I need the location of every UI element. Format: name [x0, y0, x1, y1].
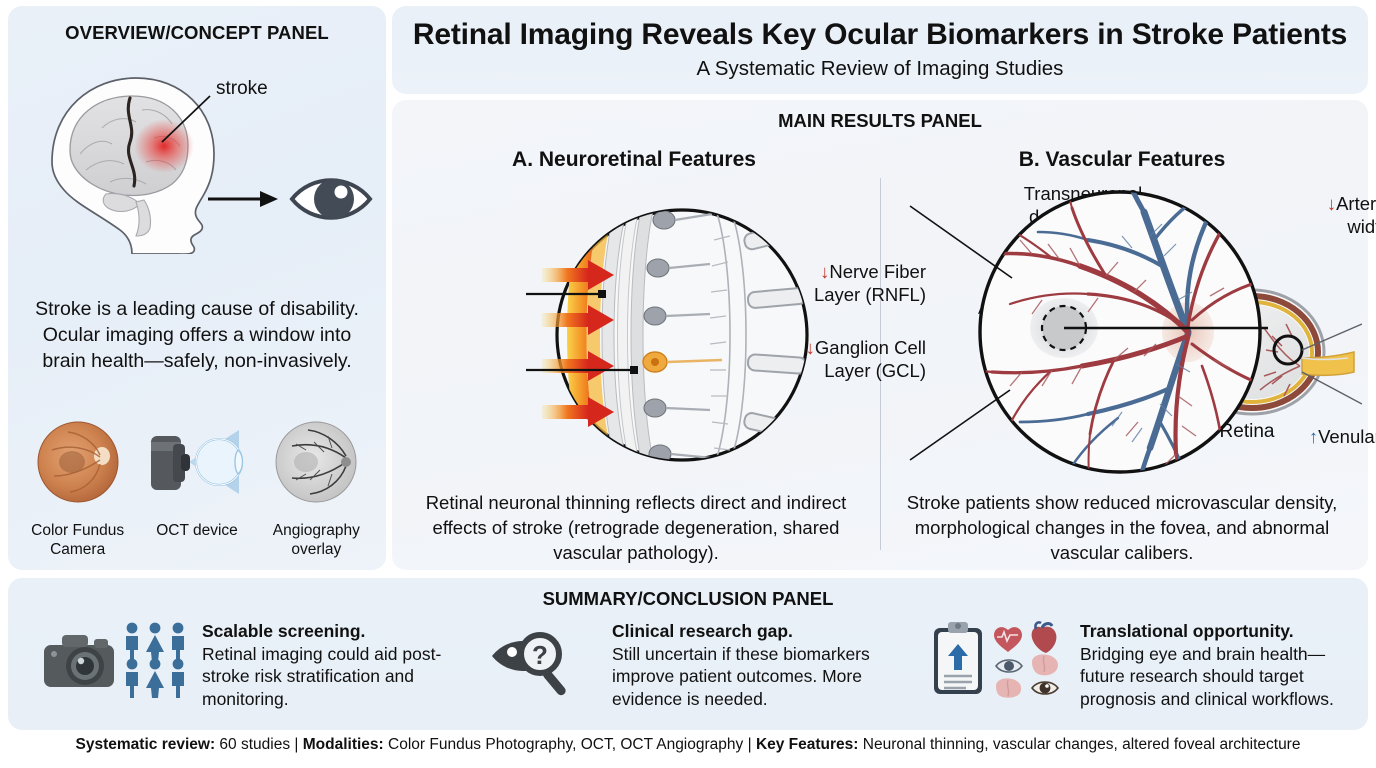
overview-concept-panel: OVERVIEW/CONCEPT PANEL	[8, 6, 386, 570]
label-venular-width: ↑Venular width	[1304, 425, 1376, 448]
summary-title: Scalable screening.	[202, 621, 365, 641]
panel-b-caption: Stroke patients show reduced microvascul…	[894, 490, 1350, 565]
angiography-overlay-icon	[262, 414, 370, 510]
summary-text: Scalable screening. Retinal imaging coul…	[202, 620, 448, 710]
header-panel: Retinal Imaging Reveals Key Ocular Bioma…	[392, 6, 1368, 94]
summary-item-translational: Translational opportunity. Bridging eye …	[928, 620, 1358, 710]
modality-label: Color Fundus Camera	[22, 521, 134, 559]
footer-value-modalities: Color Fundus Photography, OCT, OCT Angio…	[388, 736, 743, 753]
summary-title: Translational opportunity.	[1080, 621, 1294, 641]
retinal-layers-diagram	[392, 170, 892, 490]
fundus-photo-icon	[24, 414, 132, 510]
svg-text:?: ?	[532, 640, 548, 670]
decrease-arrow-icon: ↓	[1327, 193, 1336, 214]
fundus-vascular-diagram	[892, 160, 1368, 500]
footer-separator: |	[294, 736, 298, 753]
footer-bar: Systematic review: 60 studies | Modaliti…	[0, 736, 1376, 754]
camera-icon	[38, 621, 120, 697]
summary-icons: ?	[488, 620, 602, 700]
infographic-root: OVERVIEW/CONCEPT PANEL	[0, 0, 1376, 768]
modality-icon-row: Color Fundus Camera OCT dev	[18, 414, 376, 559]
summary-conclusion-panel: SUMMARY/CONCLUSION PANEL	[8, 578, 1368, 730]
panel-a-title: A. Neuroretinal Features	[404, 148, 864, 172]
footer-separator: |	[748, 736, 752, 753]
footer-label-review: Systematic review:	[76, 736, 216, 753]
modality-label: Angiography overlay	[260, 521, 372, 559]
people-group-icon	[120, 620, 192, 698]
modality-angiography: Angiography overlay	[260, 414, 372, 559]
main-results-heading: MAIN RESULTS PANEL	[392, 110, 1368, 132]
modality-label: OCT device	[141, 521, 253, 540]
increase-arrow-icon: ↑	[1309, 426, 1318, 447]
oct-device-icon	[143, 414, 251, 510]
footer-value-review: 60 studies	[219, 736, 290, 753]
main-results-panel: MAIN RESULTS PANEL A. Neuroretinal Featu…	[392, 100, 1368, 570]
overview-body-text: Stroke is a leading cause of disability.…	[24, 296, 370, 374]
label-arteriolar-text: Arteriolar width	[1336, 193, 1376, 237]
decrease-arrow-icon: ↓	[806, 337, 815, 358]
page-subtitle: A Systematic Review of Imaging Studies	[392, 57, 1368, 81]
overview-panel-title: OVERVIEW/CONCEPT PANEL	[8, 22, 386, 44]
decrease-arrow-icon: ↓	[820, 261, 829, 282]
summary-item-scalable-screening: Scalable screening. Retinal imaging coul…	[38, 620, 448, 710]
heart-brain-eye-grid-icon	[992, 620, 1070, 700]
footer-label-modalities: Modalities:	[303, 736, 384, 753]
summary-icons	[928, 620, 1070, 700]
page-title: Retinal Imaging Reveals Key Ocular Bioma…	[392, 18, 1368, 52]
label-arteriolar-width: ↓Arteriolar width	[1304, 192, 1376, 238]
stroke-label-text: stroke	[216, 78, 268, 99]
eye-magnifier-question-icon: ?	[488, 620, 602, 700]
head-brain-eye-figure: stroke	[14, 54, 380, 254]
label-venular-text: Venular width	[1318, 426, 1376, 447]
summary-panel-heading: SUMMARY/CONCLUSION PANEL	[8, 588, 1368, 610]
summary-text: Translational opportunity. Bridging eye …	[1080, 620, 1358, 710]
summary-body: Bridging eye and brain health—future res…	[1080, 644, 1334, 709]
footer-value-key-features: Neuronal thinning, vascular changes, alt…	[863, 736, 1301, 753]
summary-body: Retinal imaging could aid post-stroke ri…	[202, 644, 441, 709]
summary-item-research-gap: ? Clinical research gap. Still uncertain…	[488, 620, 888, 710]
footer-label-key-features: Key Features:	[756, 736, 859, 753]
summary-text: Clinical research gap. Still uncertain i…	[612, 620, 888, 710]
eye-icon	[292, 179, 370, 219]
modality-oct-device: OCT device	[141, 414, 253, 540]
modality-fundus-camera: Color Fundus Camera	[22, 414, 134, 559]
summary-icons	[38, 620, 192, 698]
panel-a-caption: Retinal neuronal thinning reflects direc…	[410, 490, 862, 565]
summary-title: Clinical research gap.	[612, 621, 793, 641]
clipboard-up-arrow-icon	[928, 620, 992, 700]
summary-body: Still uncertain if these biomarkers impr…	[612, 644, 870, 709]
